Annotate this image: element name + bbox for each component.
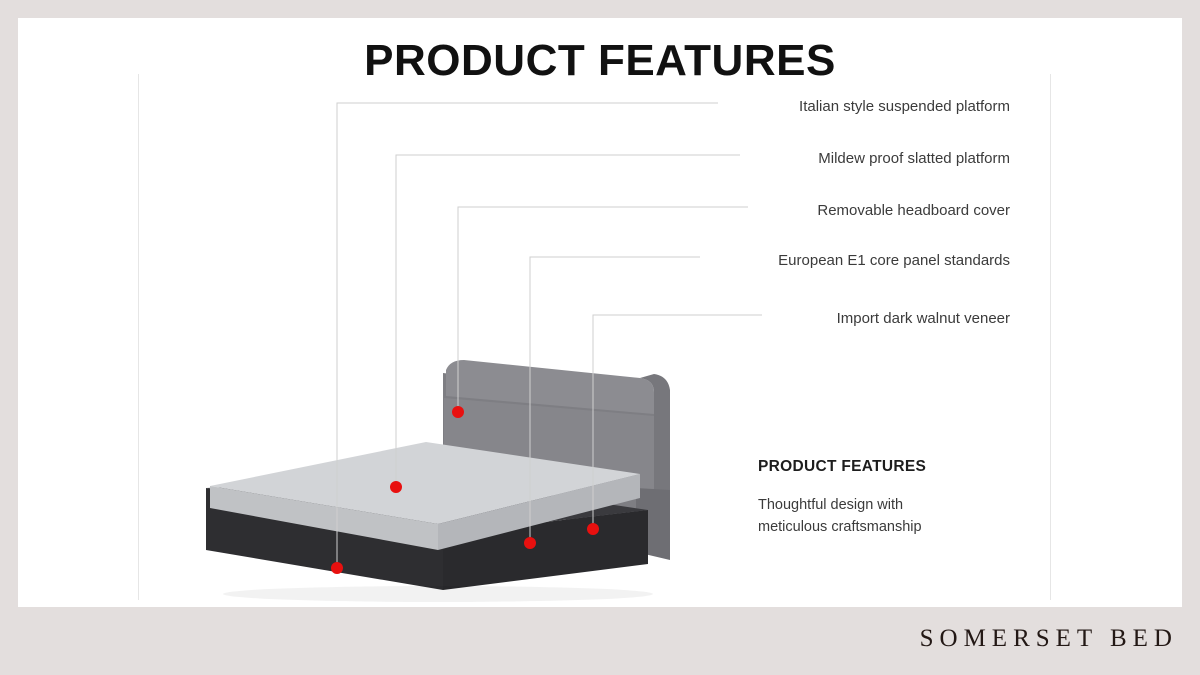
- info-line-1: Thoughtful design with: [758, 494, 1038, 516]
- page-title: PRODUCT FEATURES: [18, 36, 1182, 86]
- brand-wordmark: SOMERSET BED: [920, 625, 1178, 653]
- product-features-info-block: PRODUCT FEATURES Thoughtful design with …: [758, 458, 1038, 539]
- feature-label-removable-headboard-cover: Removable headboard cover: [817, 202, 1010, 219]
- frame-rule-right: [1050, 74, 1051, 600]
- feature-label-mildew-proof-slatted-platform: Mildew proof slatted platform: [818, 150, 1010, 167]
- content-card: PRODUCT FEATURES Italian style suspended…: [18, 18, 1182, 607]
- feature-label-european-e1-core-panel-standards: European E1 core panel standards: [778, 252, 1010, 269]
- feature-label-import-dark-walnut-veneer: Import dark walnut veneer: [837, 310, 1010, 327]
- bed-illustration: [188, 338, 688, 608]
- feature-label-italian-style-suspended-platform: Italian style suspended platform: [799, 98, 1010, 115]
- info-heading: PRODUCT FEATURES: [758, 458, 1038, 476]
- bed-ground-shadow: [223, 586, 653, 602]
- frame-rule-left: [138, 74, 139, 600]
- info-line-2: meticulous craftsmanship: [758, 516, 1038, 538]
- footer-bar: SOMERSET BED: [0, 607, 1200, 675]
